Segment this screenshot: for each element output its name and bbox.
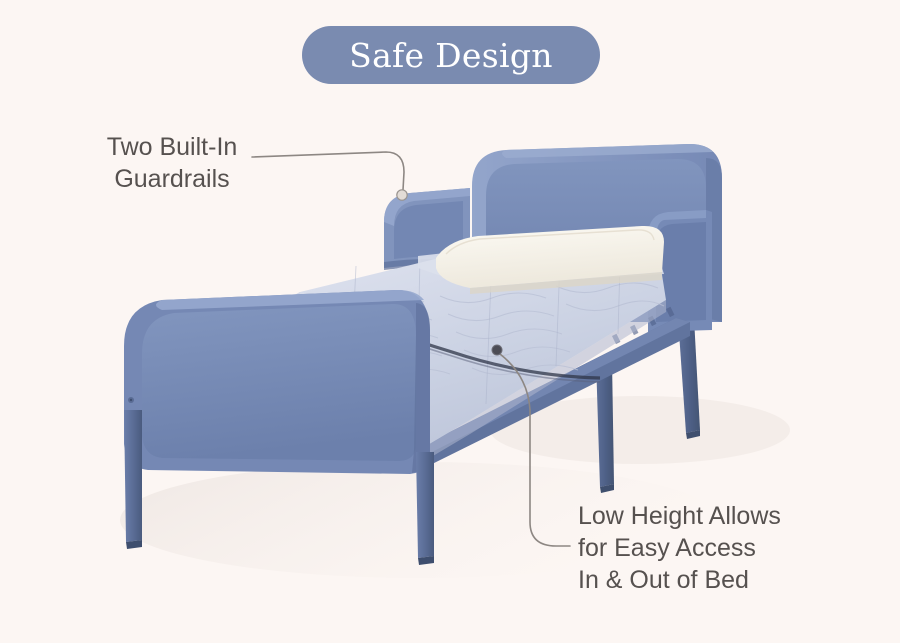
- callout-guardrails-line-2: Guardrails: [82, 163, 262, 195]
- title-badge-label: Safe Design: [349, 39, 553, 72]
- callout-guardrails-line-1: Two Built-In: [82, 131, 262, 163]
- callout-guardrails: Two Built-In Guardrails: [82, 131, 262, 195]
- callout-low-height-line-1: Low Height Allows: [578, 500, 781, 532]
- bed-footboard: [124, 290, 430, 481]
- callout-low-height-line-2: for Easy Access: [578, 532, 781, 564]
- infographic-root: Safe Design Two Built-In Guardrails Low …: [0, 0, 900, 643]
- callout-low-height-line-3: In & Out of Bed: [578, 564, 781, 596]
- title-badge: Safe Design: [302, 26, 600, 84]
- callout-low-height: Low Height Allows for Easy Access In & O…: [578, 500, 781, 596]
